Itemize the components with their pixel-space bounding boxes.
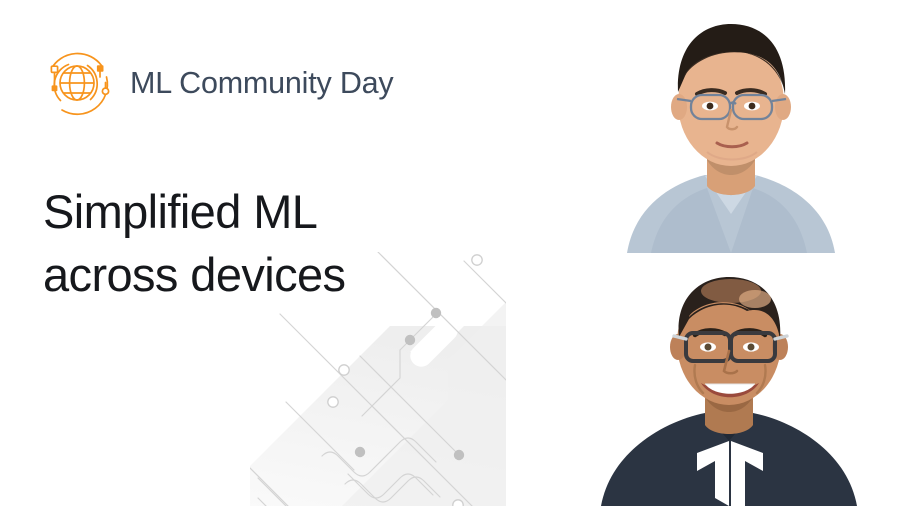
speaker-photo-column — [555, 0, 900, 506]
speaker-photo-top — [555, 0, 900, 253]
brand-name: ML Community Day — [130, 68, 393, 99]
title-line-1: Simplified ML — [43, 181, 513, 244]
slide-canvas: ML Community Day Simplified ML across de… — [0, 0, 900, 506]
title-line-2: across devices — [43, 244, 513, 307]
speaker-photo-bottom — [555, 255, 900, 506]
page-title: Simplified ML across devices — [43, 181, 513, 306]
brand-lockup: ML Community Day — [38, 44, 393, 122]
globe-orbit-icon — [38, 44, 116, 122]
